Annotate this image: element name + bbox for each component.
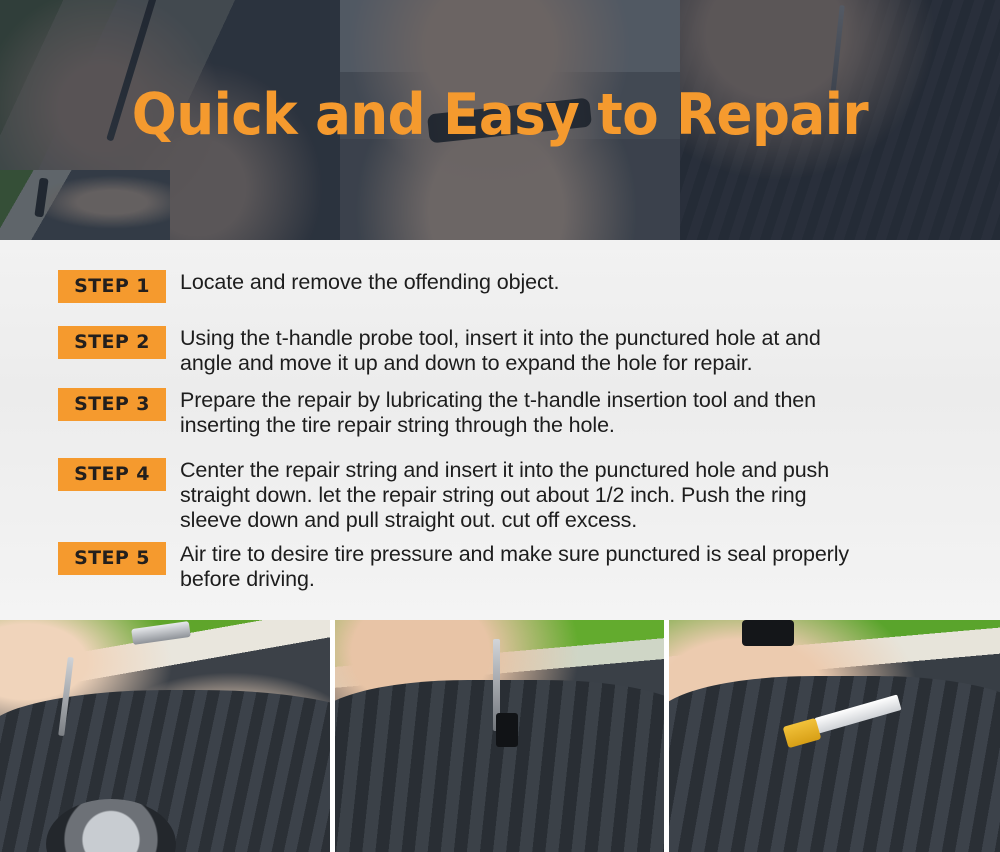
step-badge-4: STEP 4 xyxy=(58,458,166,491)
page-title: Quick and Easy to Repair xyxy=(35,84,965,146)
step-line: inserting the tire repair string through… xyxy=(180,413,978,438)
step-row-5: STEP 5 Air tire to desire tire pressure … xyxy=(0,542,1000,592)
step-text-2: Using the t-handle probe tool, insert it… xyxy=(180,326,1000,376)
step-line: straight down. let the repair string out… xyxy=(180,483,978,508)
step-badge-1: STEP 1 xyxy=(58,270,166,303)
step-line: Using the t-handle probe tool, insert it… xyxy=(180,326,978,351)
step-text-5: Air tire to desire tire pressure and mak… xyxy=(180,542,1000,592)
step-line: sleeve down and pull straight out. cut o… xyxy=(180,508,978,533)
step-line: Prepare the repair by lubricating the t-… xyxy=(180,388,978,413)
step-row-3: STEP 3 Prepare the repair by lubricating… xyxy=(0,388,1000,438)
step-line: Center the repair string and insert it i… xyxy=(180,458,978,483)
steps-section: STEP 1 Locate and remove the offending o… xyxy=(0,240,1000,620)
step-line: Locate and remove the offending object. xyxy=(180,270,978,295)
infographic-page: Quick and Easy to Repair STEP 1 Locate a… xyxy=(0,0,1000,852)
repair-string-shape xyxy=(496,713,518,747)
step-text-4: Center the repair string and insert it i… xyxy=(180,458,1000,533)
cutting-excess-string-photo xyxy=(669,620,1000,852)
step-line: before driving. xyxy=(180,567,978,592)
step-row-1: STEP 1 Locate and remove the offending o… xyxy=(0,270,1000,303)
step-badge-5: STEP 5 xyxy=(58,542,166,575)
step-row-4: STEP 4 Center the repair string and inse… xyxy=(0,458,1000,533)
probing-tire-puncture-photo xyxy=(0,620,330,852)
photo-tint-overlay xyxy=(0,170,170,240)
step-row-2: STEP 2 Using the t-handle probe tool, in… xyxy=(0,326,1000,376)
step-text-3: Prepare the repair by lubricating the t-… xyxy=(180,388,1000,438)
step-text-1: Locate and remove the offending object. xyxy=(180,270,1000,295)
gallery-photo-1 xyxy=(0,620,330,852)
step-line: Air tire to desire tire pressure and mak… xyxy=(180,542,978,567)
gallery-photo-3 xyxy=(669,620,1000,852)
bottom-photo-gallery xyxy=(0,620,1000,852)
step-line: angle and move it up and down to expand … xyxy=(180,351,978,376)
header-banner: Quick and Easy to Repair xyxy=(0,0,1000,240)
gallery-photo-2 xyxy=(335,620,665,852)
wristwatch-shape xyxy=(742,620,794,646)
banner-inset-photo xyxy=(0,170,170,240)
step-badge-3: STEP 3 xyxy=(58,388,166,421)
step-badge-2: STEP 2 xyxy=(58,326,166,359)
